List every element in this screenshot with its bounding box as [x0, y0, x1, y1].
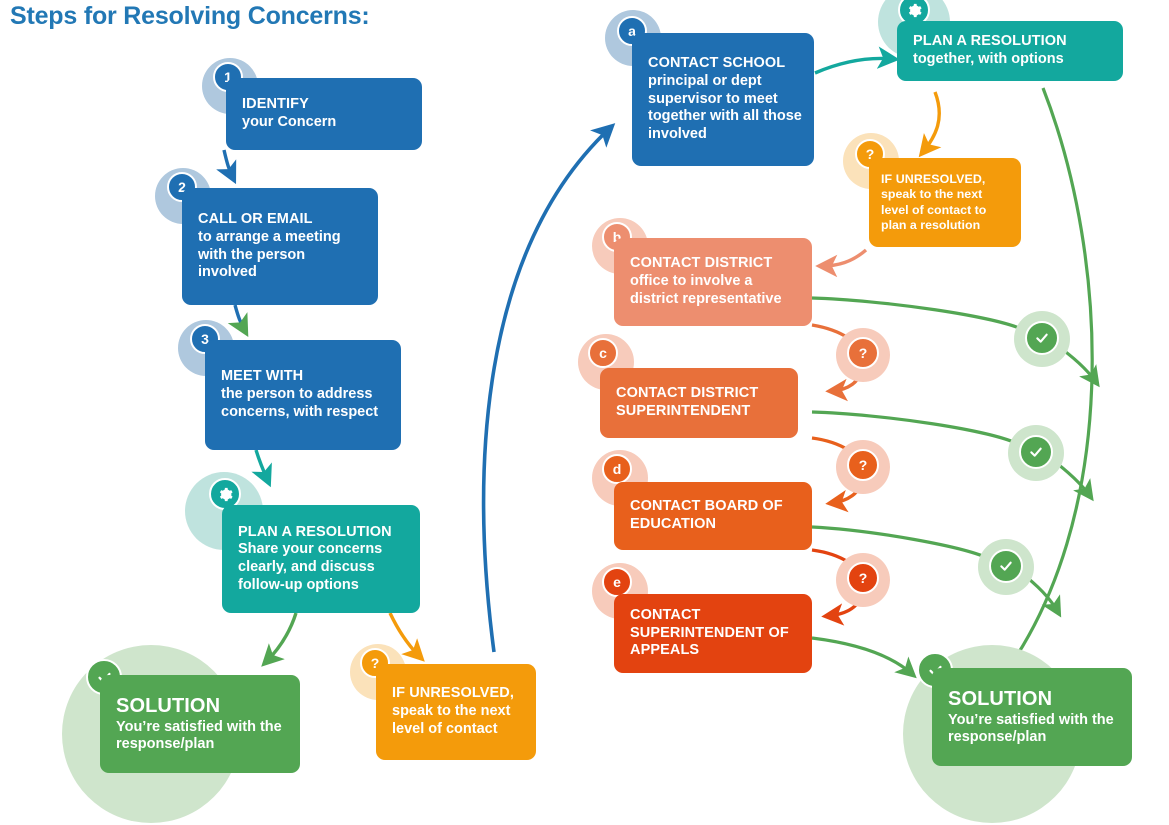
page-title: Steps for Resolving Concerns:	[10, 2, 370, 31]
unresolved-right-box[interactable]: IF UNRESOLVED, speak to the next level o…	[869, 158, 1021, 247]
solution-left-heading: SOLUTION	[116, 694, 288, 718]
arrow-b-to-check1	[812, 298, 1028, 332]
solution-right-box[interactable]: SOLUTION You’re satisfied with the respo…	[932, 668, 1132, 766]
arrow-d-to-check3	[812, 527, 992, 560]
question-marker-3: ?	[847, 562, 879, 594]
contact-d-heading: CONTACT BOARD OF EDUCATION	[630, 498, 800, 533]
arrow-step1-to-step2	[224, 150, 233, 178]
solution-right-heading: SOLUTION	[948, 687, 1120, 711]
solution-left-box[interactable]: SOLUTION You’re satisfied with the respo…	[100, 675, 300, 773]
question-marker-1-label: ?	[859, 346, 868, 360]
unresolved-left-box[interactable]: IF UNRESOLVED, speak to the next level o…	[376, 664, 536, 760]
contact-a-body: principal or dept supervisor to meet tog…	[648, 73, 802, 144]
contact-c-badge: c	[588, 338, 618, 368]
step-1-heading: IDENTIFY	[242, 96, 410, 114]
check-icon	[1028, 444, 1044, 460]
step-3-heading: MEET WITH	[221, 368, 389, 386]
arrow-unresolved-to-contact-school	[484, 128, 610, 652]
contact-e-badge: e	[602, 567, 632, 597]
check-marker-2	[1019, 435, 1053, 469]
contact-c-heading: CONTACT DISTRICT SUPERINTENDENT	[616, 385, 786, 420]
plan-left-box[interactable]: PLAN A RESOLUTION Share your concerns cl…	[222, 505, 420, 613]
contact-d-badge: d	[602, 454, 632, 484]
arrow-e-to-solution	[812, 638, 912, 674]
check-marker-1	[1025, 321, 1059, 355]
arrow-unresolved-to-district	[822, 250, 866, 266]
step-2-heading: CALL OR EMAIL	[198, 211, 366, 229]
plan-left-heading: PLAN A RESOLUTION	[238, 524, 408, 542]
plan-right-box[interactable]: PLAN A RESOLUTION together, with options	[897, 21, 1123, 81]
solution-right-body: You’re satisfied with the response/plan	[948, 712, 1120, 747]
step-3-box[interactable]: MEET WITH the person to address concerns…	[205, 340, 401, 450]
question-marker-2: ?	[847, 449, 879, 481]
contact-e-badge-label: e	[613, 575, 621, 589]
plan-left-body: Share your concerns clearly, and discuss…	[238, 541, 408, 594]
step-3-body: the person to address concerns, with res…	[221, 386, 389, 421]
question-marker-1: ?	[847, 337, 879, 369]
check-marker-3	[989, 549, 1023, 583]
check-icon	[1034, 330, 1050, 346]
step-2-body: to arrange a meeting with the person inv…	[198, 229, 366, 282]
step-2-box[interactable]: CALL OR EMAIL to arrange a meeting with …	[182, 188, 378, 305]
contact-b-box[interactable]: CONTACT DISTRICT office to involve a dis…	[614, 238, 812, 326]
question-marker-3-label: ?	[859, 571, 868, 585]
contact-b-body: office to involve a district representat…	[630, 273, 800, 308]
arrow-plan-to-solution	[266, 613, 296, 662]
contact-a-box[interactable]: CONTACT SCHOOL principal or dept supervi…	[632, 33, 814, 166]
contact-d-badge-label: d	[613, 462, 622, 476]
arrow-step2-to-step3	[235, 305, 245, 331]
step-1-box[interactable]: IDENTIFY your Concern	[226, 78, 422, 150]
contact-c-box[interactable]: CONTACT DISTRICT SUPERINTENDENT	[600, 368, 798, 438]
arrow-plan-to-unresolved-right	[923, 92, 939, 152]
unresolved-right-body: speak to the next level of contact to pl…	[881, 187, 1011, 232]
contact-d-box[interactable]: CONTACT BOARD OF EDUCATION	[614, 482, 812, 550]
unresolved-right-heading: IF UNRESOLVED,	[881, 172, 1011, 187]
gear-icon	[907, 3, 922, 18]
plan-right-heading: PLAN A RESOLUTION	[913, 33, 1111, 51]
arrow-step3-to-plan	[256, 450, 268, 481]
diagram-canvas: Steps for Resolving Concerns: 1 IDENTIFY…	[0, 0, 1169, 825]
unresolved-left-heading: IF UNRESOLVED,	[392, 685, 524, 703]
check-icon	[998, 558, 1014, 574]
arrow-school-to-plan	[815, 59, 893, 73]
step-1-body: your Concern	[242, 114, 410, 132]
contact-e-heading: CONTACT SUPERINTENDENT OF APPEALS	[630, 607, 800, 660]
solution-left-body: You’re satisfied with the response/plan	[116, 719, 288, 754]
gear-icon	[218, 487, 233, 502]
unresolved-left-body: speak to the next level of contact	[392, 703, 524, 738]
question-marker-2-label: ?	[859, 458, 868, 472]
contact-c-badge-label: c	[599, 346, 607, 360]
contact-a-heading: CONTACT SCHOOL	[648, 55, 802, 73]
arrow-c-to-check2	[812, 412, 1022, 446]
contact-e-box[interactable]: CONTACT SUPERINTENDENT OF APPEALS	[614, 594, 812, 673]
contact-b-heading: CONTACT DISTRICT	[630, 255, 800, 273]
plan-right-body: together, with options	[913, 51, 1111, 69]
